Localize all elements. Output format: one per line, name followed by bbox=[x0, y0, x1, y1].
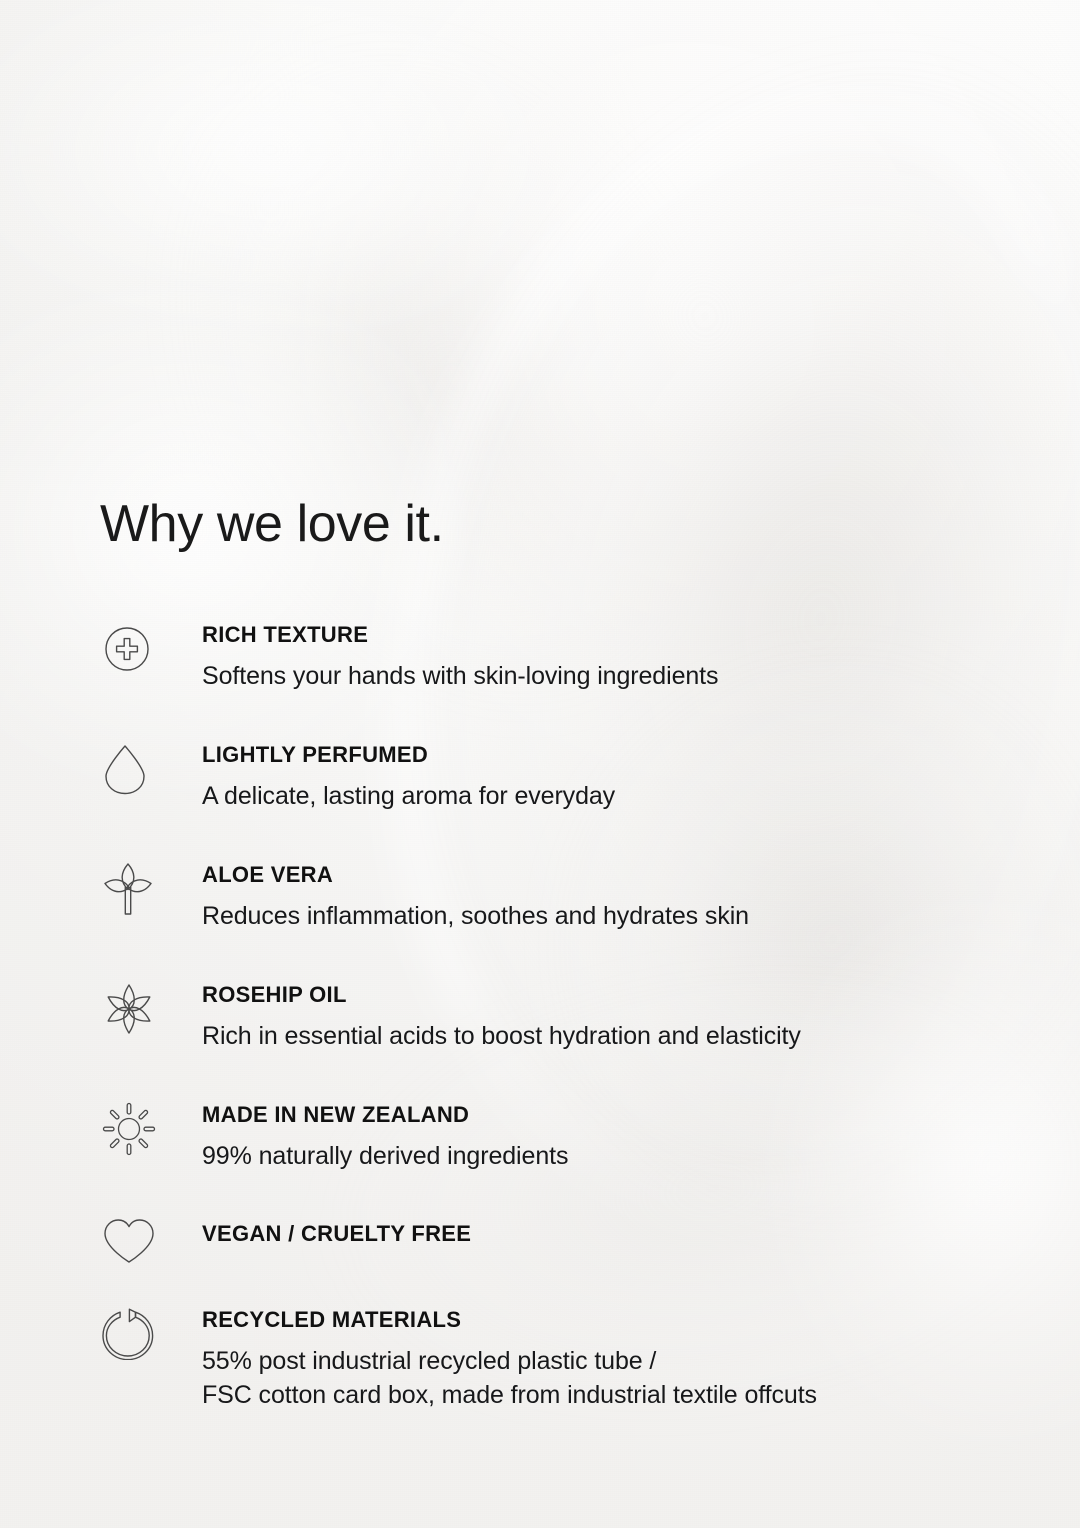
sun-icon bbox=[100, 1092, 202, 1166]
feature-item-rich-texture: RICH TEXTURE Softens your hands with ski… bbox=[100, 612, 1040, 732]
feature-description: 55% post industrial recycled plastic tub… bbox=[202, 1345, 1040, 1412]
feature-item-rosehip-oil: ROSEHIP OIL Rich in essential acids to b… bbox=[100, 972, 1040, 1092]
feature-title: RICH TEXTURE bbox=[202, 622, 1040, 648]
feature-item-recycled-materials: RECYCLED MATERIALS 55% post industrial r… bbox=[100, 1297, 1040, 1447]
feature-description-line: A delicate, lasting aroma for everyday bbox=[202, 780, 1040, 814]
feature-item-lightly-perfumed: LIGHTLY PERFUMED A delicate, lasting aro… bbox=[100, 732, 1040, 852]
page-title: Why we love it. bbox=[100, 497, 444, 552]
feature-text: VEGAN / CRUELTY FREE bbox=[202, 1212, 1040, 1247]
feature-description: Softens your hands with skin-loving ingr… bbox=[202, 660, 1040, 694]
feature-title: ROSEHIP OIL bbox=[202, 982, 1040, 1008]
feature-item-made-in-new-zealand: MADE IN NEW ZEALAND 99% naturally derive… bbox=[100, 1092, 1040, 1212]
feature-text: ROSEHIP OIL Rich in essential acids to b… bbox=[202, 972, 1040, 1054]
feature-description-line: Rich in essential acids to boost hydrati… bbox=[202, 1020, 1040, 1054]
heart-icon bbox=[100, 1212, 202, 1270]
feature-list: RICH TEXTURE Softens your hands with ski… bbox=[100, 612, 1040, 1447]
plus-circle-icon bbox=[100, 612, 202, 686]
feature-text: ALOE VERA Reduces inflammation, soothes … bbox=[202, 852, 1040, 934]
recycle-loop-icon bbox=[100, 1297, 202, 1371]
feature-text: LIGHTLY PERFUMED A delicate, lasting aro… bbox=[202, 732, 1040, 814]
feature-description-line: Softens your hands with skin-loving ingr… bbox=[202, 660, 1040, 694]
flower-icon bbox=[100, 972, 202, 1046]
feature-description: 99% naturally derived ingredients bbox=[202, 1140, 1040, 1174]
leaf-plant-icon bbox=[100, 852, 202, 926]
feature-item-aloe-vera: ALOE VERA Reduces inflammation, soothes … bbox=[100, 852, 1040, 972]
content-column: Why we love it. RICH TEXTURE Softens you… bbox=[100, 0, 1040, 1528]
feature-description: A delicate, lasting aroma for everyday bbox=[202, 780, 1040, 814]
feature-text: MADE IN NEW ZEALAND 99% naturally derive… bbox=[202, 1092, 1040, 1174]
feature-description-line: FSC cotton card box, made from industria… bbox=[202, 1379, 1040, 1413]
product-benefits-panel: Why we love it. RICH TEXTURE Softens you… bbox=[0, 0, 1080, 1528]
feature-item-vegan-cruelty-free: VEGAN / CRUELTY FREE bbox=[100, 1212, 1040, 1297]
feature-title: RECYCLED MATERIALS bbox=[202, 1307, 1040, 1333]
feature-description-line: Reduces inflammation, soothes and hydrat… bbox=[202, 900, 1040, 934]
feature-title: ALOE VERA bbox=[202, 862, 1040, 888]
feature-description: Rich in essential acids to boost hydrati… bbox=[202, 1020, 1040, 1054]
feature-text: RECYCLED MATERIALS 55% post industrial r… bbox=[202, 1297, 1040, 1412]
feature-text: RICH TEXTURE Softens your hands with ski… bbox=[202, 612, 1040, 694]
feature-title: VEGAN / CRUELTY FREE bbox=[202, 1221, 1040, 1247]
feature-description-line: 55% post industrial recycled plastic tub… bbox=[202, 1345, 1040, 1379]
feature-description: Reduces inflammation, soothes and hydrat… bbox=[202, 900, 1040, 934]
feature-title: LIGHTLY PERFUMED bbox=[202, 742, 1040, 768]
feature-description-line: 99% naturally derived ingredients bbox=[202, 1140, 1040, 1174]
feature-title: MADE IN NEW ZEALAND bbox=[202, 1102, 1040, 1128]
droplet-icon bbox=[100, 732, 202, 806]
